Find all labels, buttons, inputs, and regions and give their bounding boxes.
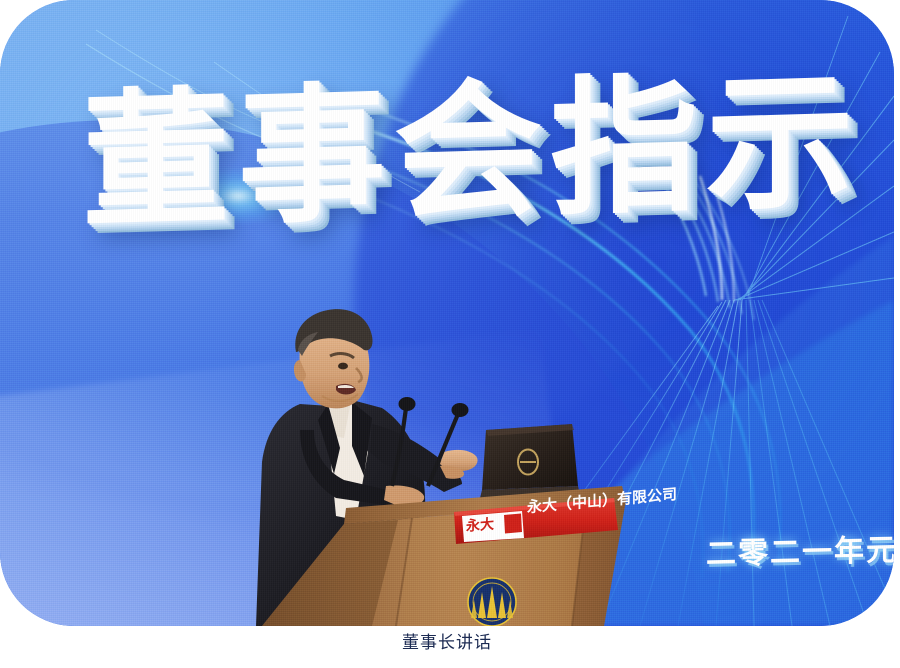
conference-stage-photo: 董事会指示 二零二一年元月二十 xyxy=(0,0,894,626)
page-root: 董事会指示 二零二一年元月二十 xyxy=(0,0,900,668)
led-pixel-grid-texture xyxy=(0,0,894,626)
photo-caption: 董事长讲话 xyxy=(0,628,894,653)
